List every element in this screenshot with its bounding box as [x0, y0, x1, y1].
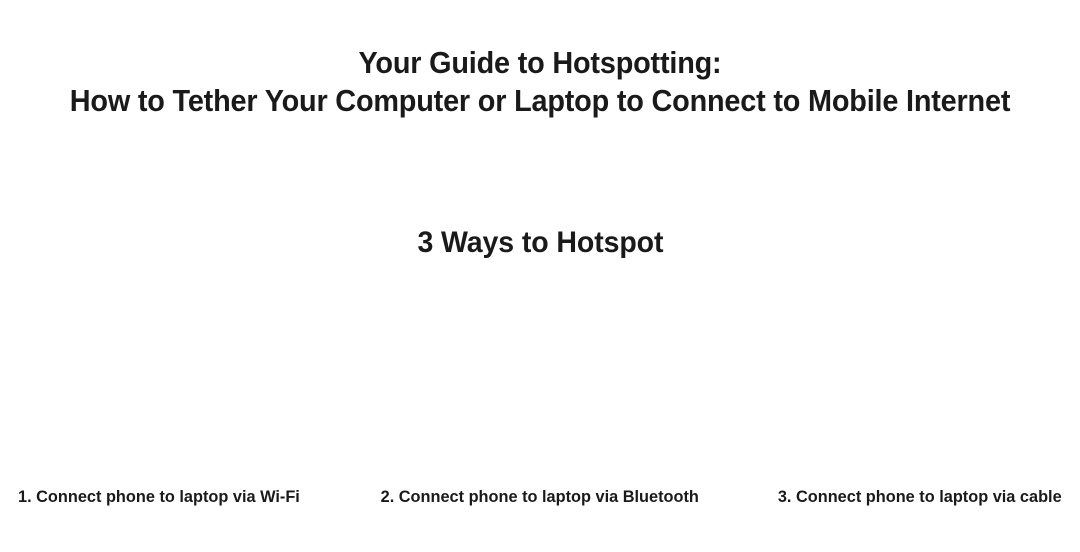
illustration-slot-cable: [720, 282, 1080, 480]
page-title-line-1: Your Guide to Hotspotting:: [38, 44, 1042, 82]
caption-row: 1. Connect phone to laptop via Wi-Fi 2. …: [0, 486, 1080, 516]
caption-wifi-label: 1. Connect phone to laptop via Wi-Fi: [18, 486, 300, 508]
caption-wifi: 1. Connect phone to laptop via Wi-Fi: [0, 486, 360, 516]
page-root: Your Guide to Hotspotting: How to Tether…: [0, 0, 1080, 552]
section-heading: 3 Ways to Hotspot: [0, 224, 1080, 262]
illustration-slot-bluetooth: [360, 282, 720, 480]
caption-bluetooth: 2. Connect phone to laptop via Bluetooth: [360, 486, 720, 516]
page-title-line-2: How to Tether Your Computer or Laptop to…: [38, 82, 1042, 120]
section-heading-label: 3 Ways to Hotspot: [417, 224, 663, 262]
illustration-band: [0, 282, 1080, 480]
caption-cable: 3. Connect phone to laptop via cable: [720, 486, 1080, 516]
illustration-slot-wifi: [0, 282, 360, 480]
caption-bluetooth-label: 2. Connect phone to laptop via Bluetooth: [381, 486, 699, 508]
caption-cable-label: 3. Connect phone to laptop via cable: [778, 486, 1062, 508]
page-title: Your Guide to Hotspotting: How to Tether…: [0, 44, 1080, 120]
